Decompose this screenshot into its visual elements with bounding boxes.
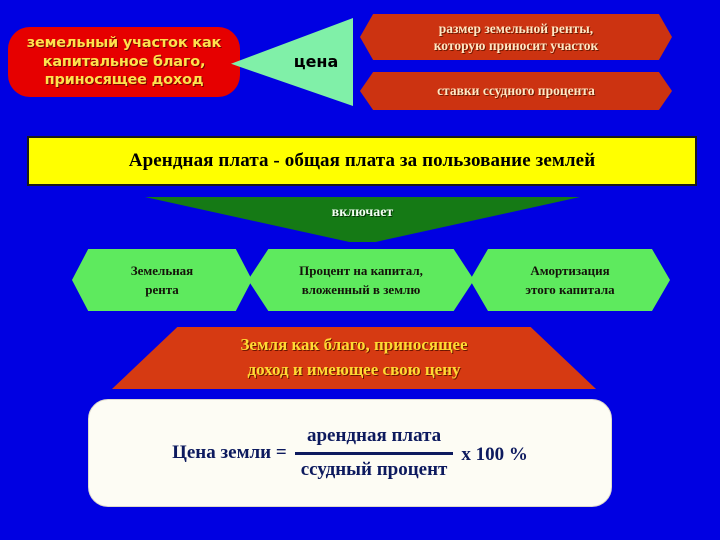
formula-division-bar	[295, 452, 454, 455]
land-price-formula-card: Цена земли = арендная плата ссудный проц…	[88, 399, 612, 507]
land-as-good-line-2: доход и имеющее свою цену	[247, 358, 460, 383]
determinant-loan-rate-line-1: ставки ссудного процента	[437, 82, 595, 99]
determinant-rent-size-line-1: размер земельной ренты,	[439, 20, 593, 37]
formula-denominator: ссудный процент	[295, 457, 454, 483]
source-box-line-2: капитальное благо,	[43, 53, 206, 72]
formula-numerator: арендная плата	[301, 423, 447, 449]
component-capital-interest-line-2: вложенный в землю	[302, 280, 421, 300]
price-connector-label: цена	[231, 18, 353, 106]
component-land-rent-line-2: рента	[145, 280, 179, 300]
component-amortization: Амортизация этого капитала	[470, 249, 670, 311]
component-amortization-line-1: Амортизация	[530, 261, 609, 281]
component-amortization-line-2: этого капитала	[525, 280, 614, 300]
component-capital-interest: Процент на капитал, вложенный в землю	[248, 249, 474, 311]
component-land-rent-line-1: Земельная	[131, 261, 193, 281]
determinant-rent-size-line-2: которую приносит участок	[434, 37, 599, 54]
component-capital-interest-line-1: Процент на капитал,	[299, 261, 423, 281]
slide-canvas: земельный участок как капитальное благо,…	[0, 0, 720, 540]
source-box-line-1: земельный участок как	[27, 34, 221, 53]
includes-label: включает	[145, 197, 580, 229]
source-box: земельный участок как капитальное благо,…	[8, 27, 240, 97]
formula-multiplier: х 100 %	[461, 439, 528, 467]
source-box-line-3: приносящее доход	[45, 71, 204, 90]
land-as-good-banner: Земля как благо, приносящее доход и имею…	[112, 327, 596, 389]
formula-fraction: арендная плата ссудный процент	[295, 423, 454, 483]
rent-definition-banner: Арендная плата - общая плата за пользова…	[27, 136, 697, 186]
determinant-rent-size: размер земельной ренты, которую приносит…	[360, 14, 672, 60]
formula-left-side: Цена земли =	[172, 441, 287, 465]
component-land-rent: Земельная рента	[72, 249, 252, 311]
determinant-loan-rate: ставки ссудного процента	[360, 72, 672, 110]
land-as-good-line-1: Земля как благо, приносящее	[240, 333, 467, 358]
